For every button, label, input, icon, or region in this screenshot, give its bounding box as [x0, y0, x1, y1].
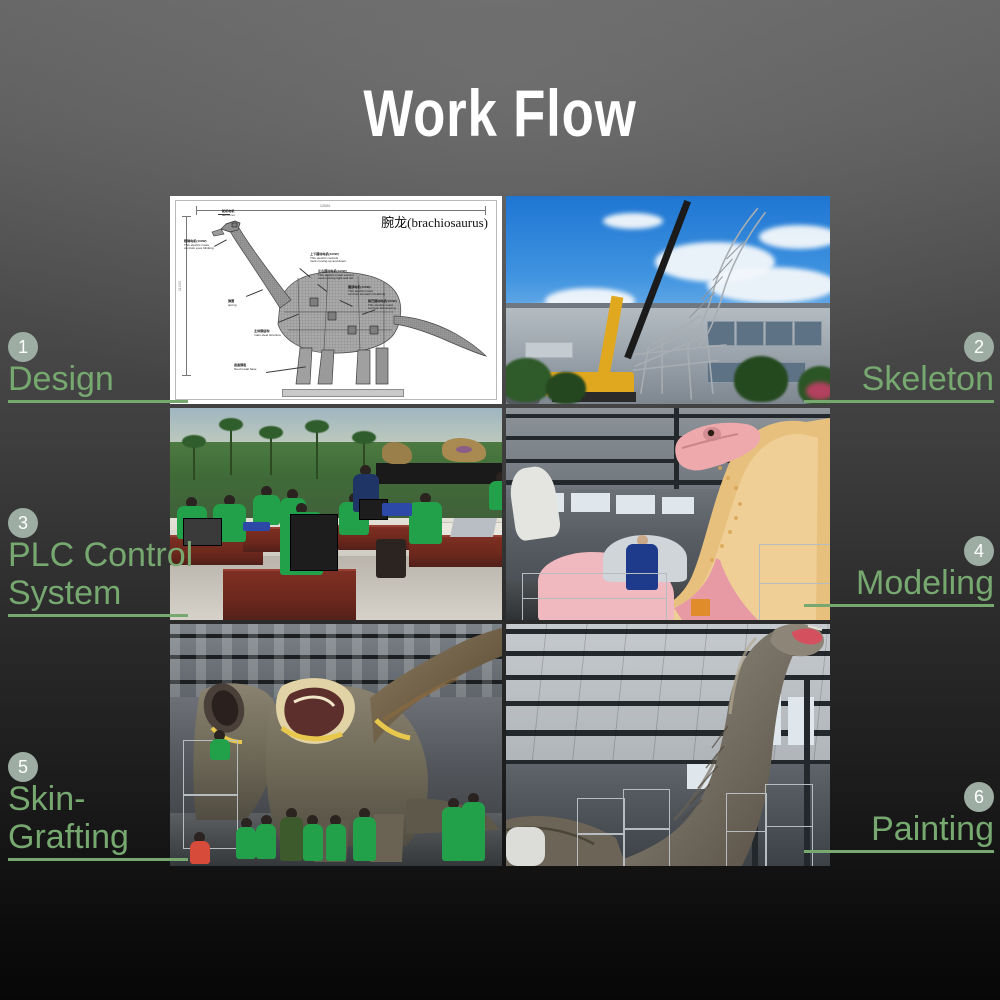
step-number-badge: 4: [964, 536, 994, 566]
scaffolding: [522, 573, 667, 620]
equipment-cabinet: [290, 514, 338, 571]
step-number-badge: 5: [8, 752, 38, 782]
tree: [546, 372, 586, 404]
step-underline: [804, 604, 994, 607]
workflow-image-grid: 12000 11000 腕龙(brachiosaurus): [170, 196, 830, 866]
scaffolding: [623, 789, 670, 866]
step-number-badge: 2: [964, 332, 994, 362]
workflow-poster: Work Flow 12000 11000 腕龙(brachiosaurus): [0, 0, 1000, 1000]
step-label: Skeleton: [694, 360, 994, 398]
step-underline: [804, 400, 994, 403]
step-number-badge: 3: [8, 508, 38, 538]
step-number-badge: 1: [8, 332, 38, 362]
dimension-left-value: 11000: [178, 281, 182, 291]
page-title: Work Flow: [100, 78, 900, 148]
step-underline: [8, 858, 188, 861]
worker: [462, 793, 485, 861]
step-label: Painting: [694, 810, 994, 848]
mural-palm-tree: [193, 442, 195, 480]
laptop: [450, 518, 497, 537]
dimension-top-value: 12000: [320, 204, 330, 208]
note-spring: 弹簧spring: [228, 300, 236, 307]
blue-toolbox: [382, 503, 412, 516]
worker: [353, 808, 376, 861]
worker: [489, 472, 502, 510]
note-neck-updown-motor: 上下摆动电机(100W)This electric controls neck …: [310, 253, 346, 264]
mural-palm-tree: [316, 427, 318, 479]
note-neck-leftright-motor: 左右摆动电机(100W)This electric motor control …: [318, 270, 353, 281]
note-stomach-motor: 腹部电机(100W)This electric motor controls s…: [348, 286, 385, 297]
display-shelf: [376, 463, 502, 484]
step-underline: [8, 614, 188, 617]
step-4-modeling[interactable]: 4 Modeling: [694, 536, 994, 607]
step-label: Design: [8, 360, 268, 398]
dinosaur-model-detail: [456, 446, 472, 453]
step-3-plc-control-system[interactable]: 3 PLC Control System: [8, 508, 268, 617]
step-number-badge: 6: [964, 782, 994, 812]
worker: [303, 815, 323, 861]
step-6-painting[interactable]: 6 Painting: [694, 782, 994, 853]
step-1-design[interactable]: 1 Design: [8, 332, 268, 403]
worker: [409, 493, 442, 544]
note-eye-motor: 眼睛电机(100W)This electric motor controls e…: [184, 240, 214, 251]
tree: [506, 358, 552, 402]
dimension-line-top: [196, 210, 486, 211]
office-chair: [376, 539, 406, 577]
leader-line: [218, 214, 230, 215]
worker: [326, 815, 346, 861]
worker: [280, 808, 303, 861]
step-underline: [8, 400, 188, 403]
step-label: PLC Control System: [8, 536, 268, 612]
mural-palm-tree: [270, 433, 272, 475]
scaffolding: [577, 798, 624, 866]
mural-palm-tree: [230, 425, 232, 475]
step-5-skin-grafting[interactable]: 5 Skin- Grafting: [8, 752, 268, 861]
step-label: Skin- Grafting: [8, 780, 268, 856]
covered-part: [506, 827, 545, 866]
step-2-skeleton[interactable]: 2 Skeleton: [694, 332, 994, 403]
step-underline: [804, 850, 994, 853]
step-label: Modeling: [694, 564, 994, 602]
blueprint-base-plate: [282, 389, 404, 397]
